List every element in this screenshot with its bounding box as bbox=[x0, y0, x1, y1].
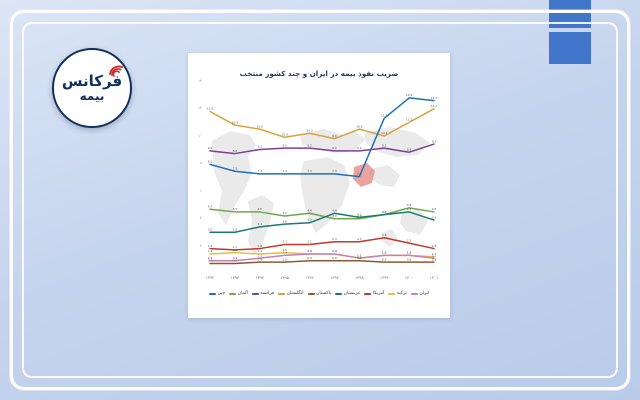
x-axis-tick: ۱۴۰۰ bbox=[405, 275, 414, 280]
legend-item[interactable]: انگلستان bbox=[278, 291, 303, 296]
legend-label: پاکستان bbox=[316, 291, 331, 296]
data-label: 11.4 bbox=[381, 113, 388, 117]
data-label: 0.8 bbox=[407, 257, 412, 261]
series-line bbox=[210, 261, 434, 264]
legend-label: آمریکا bbox=[373, 291, 385, 296]
wifi-signal-icon bbox=[108, 65, 124, 77]
data-label: 9.0 bbox=[332, 146, 337, 150]
legend-label: ایران bbox=[419, 291, 429, 296]
data-label: 0.9 bbox=[332, 256, 337, 260]
data-label: 9.2 bbox=[307, 143, 312, 147]
legend-item[interactable]: عربستان bbox=[335, 291, 360, 296]
legend-item[interactable]: چین bbox=[209, 291, 225, 296]
y-axis-tick: ۱۲ bbox=[198, 106, 202, 110]
x-axis-tick: ۱۳۹۲ bbox=[206, 275, 215, 280]
x-axis-tick: ۱۳۹۶ bbox=[305, 275, 314, 280]
data-label: 2.2 bbox=[407, 238, 412, 242]
data-label: 3.6 bbox=[282, 219, 287, 223]
data-label: 10.9 bbox=[232, 120, 239, 124]
x-axis-labels: ۱۳۹۲۱۳۹۳۱۳۹۴۱۳۹۵۱۳۹۶۱۳۹۷۱۳۹۸۱۳۹۹۱۴۰۰۱۴۰۱ bbox=[204, 275, 442, 285]
series-line bbox=[210, 254, 434, 261]
data-label: 1.3 bbox=[407, 251, 412, 255]
data-label: 3.0 bbox=[233, 227, 238, 231]
legend-swatch bbox=[209, 293, 216, 295]
data-label: 12.9 bbox=[406, 93, 413, 97]
data-label: 0.8 bbox=[432, 257, 437, 261]
data-label: 7.3 bbox=[257, 169, 262, 173]
chart-title: ضریب نفوذ بیمه در ایران و چند کشور منتخب bbox=[188, 69, 450, 78]
data-label: 0.7 bbox=[233, 259, 238, 263]
data-label: 1.3 bbox=[282, 251, 287, 255]
x-axis-tick: ۱۴۰۱ bbox=[430, 275, 439, 280]
legend-swatch bbox=[229, 293, 236, 295]
chart-series-layer: 11.910.910.610.010.39.910.610.111.112.19… bbox=[204, 83, 442, 273]
legend-item[interactable]: فرانسه bbox=[252, 291, 274, 296]
legend-swatch bbox=[364, 293, 371, 295]
x-axis-tick: ۱۳۹۴ bbox=[255, 275, 264, 280]
data-label: 3.0 bbox=[208, 227, 213, 231]
data-label: 12.7 bbox=[431, 96, 438, 100]
data-label: 0.8 bbox=[257, 257, 262, 261]
data-label: 10.3 bbox=[306, 128, 313, 132]
x-axis-tick: ۱۳۹۹ bbox=[380, 275, 389, 280]
data-label: 7.3 bbox=[332, 169, 337, 173]
data-label: 12.1 bbox=[431, 104, 438, 108]
data-label: 0.8 bbox=[382, 257, 387, 261]
brand-logo-line1: فرکانس bbox=[62, 74, 122, 89]
legend-item[interactable]: ایران bbox=[411, 291, 429, 296]
y-axis-tick: ۴ bbox=[200, 216, 202, 220]
legend-swatch bbox=[252, 293, 259, 295]
data-label: 4.5 bbox=[432, 207, 437, 211]
legend-item[interactable]: پاکستان bbox=[308, 291, 332, 296]
data-label: 10.0 bbox=[281, 132, 288, 136]
series-line bbox=[210, 98, 434, 177]
chart-legend[interactable]: چینآلمانفرانسهانگلستانپاکستانعربستانآمری… bbox=[188, 291, 450, 296]
legend-label: چین bbox=[217, 291, 225, 296]
legend-item[interactable]: آمریکا bbox=[364, 291, 384, 296]
legend-swatch bbox=[388, 293, 395, 295]
data-label: 8.8 bbox=[233, 149, 238, 153]
y-axis-tick: ۱۰ bbox=[198, 134, 202, 138]
legend-item[interactable]: ترکیه bbox=[388, 291, 406, 296]
legend-label: فرانسه bbox=[260, 291, 274, 296]
y-axis-tick: ۰ bbox=[200, 271, 202, 275]
x-axis-tick: ۱۳۹۸ bbox=[355, 275, 364, 280]
legend-swatch bbox=[335, 293, 342, 295]
chart-plot-area: 11.910.910.610.010.39.910.610.111.112.19… bbox=[204, 83, 442, 273]
data-label: 0.7 bbox=[208, 259, 213, 263]
series-line bbox=[210, 144, 434, 154]
data-label: 3.9 bbox=[432, 215, 437, 219]
data-label: 2.1 bbox=[282, 240, 287, 244]
brand-logo: فرکانس بیمه bbox=[52, 48, 132, 128]
data-label: 3.7 bbox=[307, 218, 312, 222]
y-axis-tick: ۲ bbox=[200, 244, 202, 248]
legend-swatch bbox=[278, 293, 285, 295]
data-label: 4.7 bbox=[208, 204, 213, 208]
series-line bbox=[210, 109, 434, 139]
data-label: 10.6 bbox=[356, 124, 363, 128]
data-label: 7.5 bbox=[233, 166, 238, 170]
legend-swatch bbox=[308, 293, 315, 295]
chart-card: ضریب نفوذ بیمه در ایران و چند کشور منتخب… bbox=[188, 53, 450, 318]
data-label: 1.8 bbox=[432, 244, 437, 248]
y-axis-tick: ۸ bbox=[200, 161, 202, 165]
data-label: 0.9 bbox=[357, 256, 362, 260]
data-label: 7.3 bbox=[282, 169, 287, 173]
data-label: 7.3 bbox=[307, 169, 312, 173]
data-label: 10.1 bbox=[381, 131, 388, 135]
data-label: 0.9 bbox=[307, 256, 312, 260]
series-line bbox=[210, 212, 434, 232]
x-axis-tick: ۱۳۹۵ bbox=[280, 275, 289, 280]
data-label: 9.2 bbox=[382, 143, 387, 147]
x-axis-tick: ۱۳۹۳ bbox=[231, 275, 240, 280]
data-label: 4.4 bbox=[332, 208, 337, 212]
data-label: 4.1 bbox=[357, 213, 362, 217]
data-label: 8.0 bbox=[208, 160, 213, 164]
legend-item[interactable]: آلمان bbox=[229, 291, 248, 296]
data-label: 9.9 bbox=[332, 134, 337, 138]
data-label: 1.4 bbox=[307, 249, 312, 253]
data-label: 2.3 bbox=[332, 237, 337, 241]
y-axis-tick: ۱۴ bbox=[198, 79, 202, 83]
data-label: 8.9 bbox=[407, 147, 412, 151]
x-axis-tick: ۱۳۹۷ bbox=[330, 275, 339, 280]
series-line bbox=[210, 238, 434, 250]
data-label: 1.8 bbox=[257, 244, 262, 248]
data-label: 1.3 bbox=[382, 251, 387, 255]
data-label: 9.5 bbox=[432, 139, 437, 143]
data-label: 4.4 bbox=[307, 208, 312, 212]
data-label: 2.6 bbox=[382, 233, 387, 237]
data-label: 2.1 bbox=[307, 240, 312, 244]
data-label: 1.5 bbox=[233, 248, 238, 252]
data-label: 1.4 bbox=[208, 249, 213, 253]
y-axis-labels: ۱۴۱۲۱۰۸۶۴۲۰ bbox=[188, 81, 202, 273]
brand-logo-text2: بیمه bbox=[80, 90, 105, 102]
data-label: 7.1 bbox=[357, 172, 362, 176]
data-label: 4.5 bbox=[407, 207, 412, 211]
data-label: 4.3 bbox=[382, 210, 387, 214]
legend-label: انگلستان bbox=[287, 291, 304, 296]
y-axis-tick: ۶ bbox=[200, 189, 202, 193]
data-label: 4.2 bbox=[282, 211, 287, 215]
data-label: 11.9 bbox=[207, 107, 214, 111]
data-label: 1.8 bbox=[208, 244, 213, 248]
data-label: 2.3 bbox=[357, 237, 362, 241]
data-label: 4.5 bbox=[257, 207, 262, 211]
legend-swatch bbox=[411, 293, 418, 295]
legend-label: ترکیه bbox=[397, 291, 407, 296]
data-label: 9.1 bbox=[257, 145, 262, 149]
data-label: 4.5 bbox=[233, 207, 238, 211]
data-label: 9.2 bbox=[282, 143, 287, 147]
data-label: 3.4 bbox=[257, 222, 262, 226]
data-label: 0.8 bbox=[282, 257, 287, 261]
data-label: 10.6 bbox=[257, 124, 264, 128]
legend-label: آلمان bbox=[238, 291, 248, 296]
data-label: 9.0 bbox=[208, 146, 213, 150]
data-label: 11.1 bbox=[406, 118, 413, 122]
slide-canvas: فرکانس بیمه ضریب نفوذ بیمه در ایران و چن… bbox=[0, 0, 640, 400]
data-label: 1.4 bbox=[332, 249, 337, 253]
data-label: 9.0 bbox=[357, 146, 362, 150]
legend-label: عربستان bbox=[344, 291, 361, 296]
